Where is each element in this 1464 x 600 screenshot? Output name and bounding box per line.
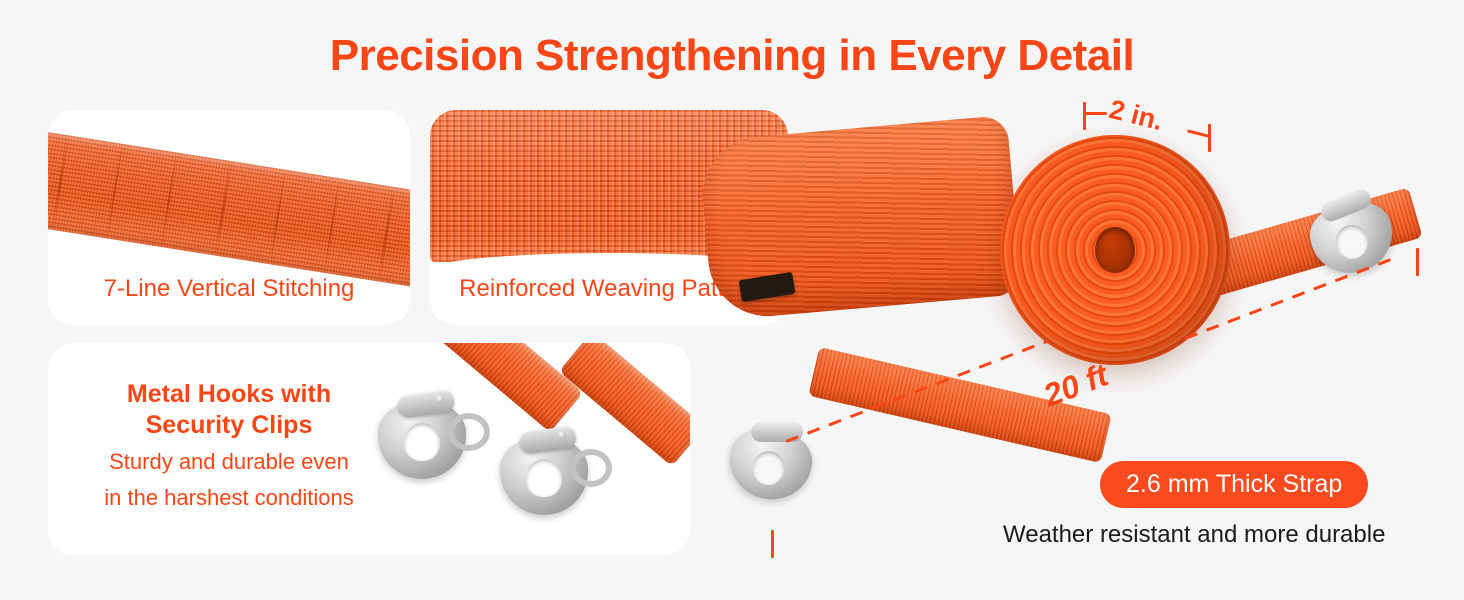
card-stitching-caption: 7-Line Vertical Stitching <box>48 275 410 303</box>
product-hook-top-right <box>1302 184 1407 283</box>
product-hook-bottom-left <box>724 413 827 509</box>
hooks-text-block: Metal Hooks with Security Clips Sturdy a… <box>72 379 386 511</box>
hooks-subtitle-line1: Sturdy and durable even <box>72 448 386 476</box>
weather-caption: Weather resistant and more durable <box>1003 521 1385 549</box>
dimension-width-line-right <box>1187 129 1209 137</box>
hook-eye-2 <box>526 459 562 497</box>
hook-pin-2 <box>558 431 566 439</box>
dimension-width-tick-right <box>1208 124 1211 152</box>
hook-link-2 <box>570 449 612 487</box>
hooks-title-line2: Security Clips <box>72 410 386 441</box>
page-title: Precision Strengthening in Every Detail <box>0 31 1464 81</box>
metal-hook-1 <box>378 387 474 483</box>
dimension-width-line-left <box>1085 112 1107 115</box>
dimension-width-tick-left <box>1083 102 1086 130</box>
strap-roll-center-hole <box>1095 227 1135 273</box>
product-hook-bottom-latch <box>751 422 803 442</box>
hook-eye-1 <box>404 423 440 461</box>
hooks-title-line1: Metal Hooks with <box>72 379 386 410</box>
hook-link-1 <box>448 413 490 451</box>
hook-pin-1 <box>436 395 444 403</box>
strap-body <box>48 129 410 293</box>
hooks-subtitle-line2: in the harshest conditions <box>72 484 386 512</box>
card-stitching: 7-Line Vertical Stitching <box>48 110 410 325</box>
strap-roll <box>1000 135 1230 365</box>
infographic-root: Precision Strengthening in Every Detail … <box>0 0 1464 600</box>
dimension-width-label: 2 in. <box>1106 94 1166 137</box>
dimension-width-annotation: 2 in. <box>1075 98 1225 150</box>
strap-tail-lower <box>808 347 1112 463</box>
card-hooks: Metal Hooks with Security Clips Sturdy a… <box>48 343 690 555</box>
thickness-badge: 2.6 mm Thick Strap <box>1100 461 1368 508</box>
metal-hook-2 <box>500 423 596 519</box>
